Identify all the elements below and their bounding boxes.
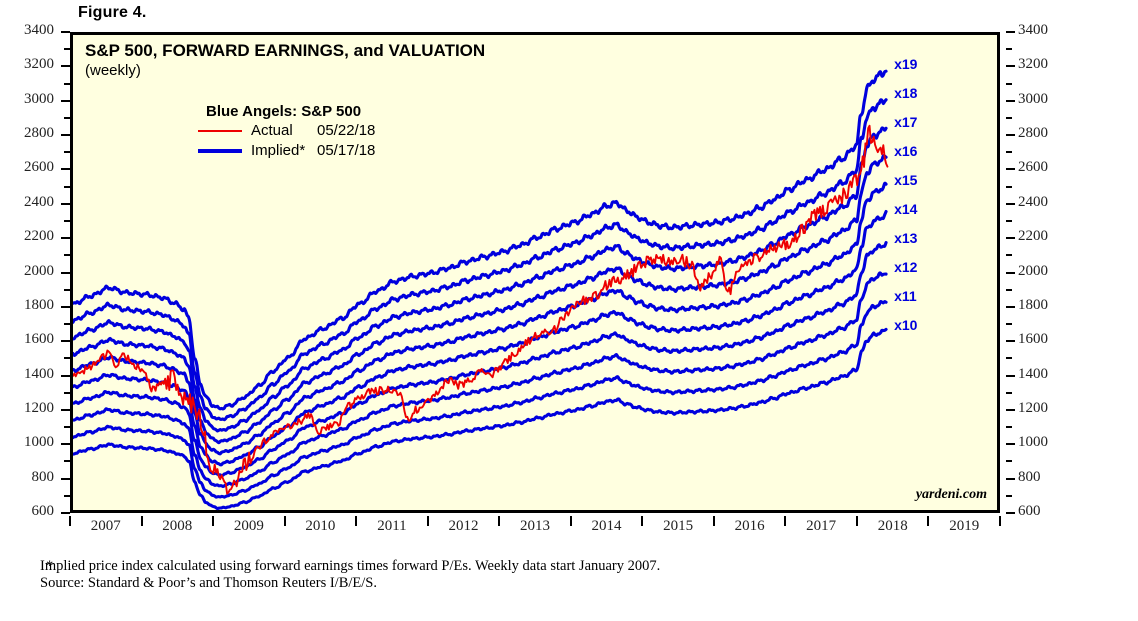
y-axis-label-3000: 3000 xyxy=(8,91,54,108)
y-tick-left xyxy=(61,168,70,170)
y-axis-label-1800: 1800 xyxy=(8,297,54,314)
x-axis-label-2012: 2012 xyxy=(433,518,493,535)
y-minor-tick-left xyxy=(64,48,70,50)
y-axis-label-1200: 1200 xyxy=(8,400,54,417)
y-axis-label-2800: 2800 xyxy=(8,125,54,142)
y-tick-right xyxy=(1006,340,1015,342)
y-tick-right xyxy=(1006,512,1015,514)
x-tick-2015 xyxy=(641,516,643,526)
y-minor-tick-left xyxy=(64,220,70,222)
x-tick-2013 xyxy=(498,516,500,526)
y-tick-left xyxy=(61,134,70,136)
footnote-marker: * xyxy=(46,558,53,575)
y-axis-label-right-1400: 1400 xyxy=(1018,366,1064,383)
x-tick-2010 xyxy=(284,516,286,526)
x-axis-label-2010: 2010 xyxy=(290,518,350,535)
y-tick-right xyxy=(1006,65,1015,67)
y-axis-label-2400: 2400 xyxy=(8,194,54,211)
y-axis-label-right-2800: 2800 xyxy=(1018,125,1064,142)
pe-multiple-label-x11: x11 xyxy=(894,288,917,304)
pe-multiple-label-x15: x15 xyxy=(894,172,917,188)
y-minor-tick-right xyxy=(1006,151,1012,153)
y-axis-label-right-3400: 3400 xyxy=(1018,22,1064,39)
y-tick-left xyxy=(61,512,70,514)
y-minor-tick-left xyxy=(64,186,70,188)
red-line-swatch-icon xyxy=(198,130,242,132)
y-tick-right xyxy=(1006,100,1015,102)
y-minor-tick-left xyxy=(64,495,70,497)
y-minor-tick-left xyxy=(64,83,70,85)
footnote-line-2: Source: Standard & Poor’s and Thomson Re… xyxy=(40,575,660,592)
pe-multiple-label-x14: x14 xyxy=(894,201,917,217)
y-minor-tick-right xyxy=(1006,83,1012,85)
y-axis-label-3200: 3200 xyxy=(8,56,54,73)
pe-multiple-label-x17: x17 xyxy=(894,114,917,130)
y-axis-label-1400: 1400 xyxy=(8,366,54,383)
legend-item-date: 05/17/18 xyxy=(317,142,375,159)
y-axis-label-right-800: 800 xyxy=(1018,469,1064,486)
pe-multiple-label-x18: x18 xyxy=(894,85,917,101)
y-tick-right xyxy=(1006,203,1015,205)
y-axis-label-2600: 2600 xyxy=(8,159,54,176)
pe-multiple-label-x12: x12 xyxy=(894,259,917,275)
x-axis-label-2011: 2011 xyxy=(362,518,422,535)
y-axis-label-right-2000: 2000 xyxy=(1018,263,1064,280)
y-axis-label-right-600: 600 xyxy=(1018,503,1064,520)
y-tick-right xyxy=(1006,31,1015,33)
x-tick-2019 xyxy=(927,516,929,526)
x-axis-label-2015: 2015 xyxy=(648,518,708,535)
pe-multiple-label-x19: x19 xyxy=(894,56,917,72)
y-axis-label-right-2400: 2400 xyxy=(1018,194,1064,211)
y-axis-label-right-1000: 1000 xyxy=(1018,434,1064,451)
pe-multiple-label-x16: x16 xyxy=(894,143,917,159)
x-axis-label-2018: 2018 xyxy=(863,518,923,535)
legend-title: Blue Angels: S&P 500 xyxy=(206,103,375,120)
y-minor-tick-left xyxy=(64,460,70,462)
y-axis-label-right-1600: 1600 xyxy=(1018,331,1064,348)
y-tick-left xyxy=(61,272,70,274)
y-axis-label-right-1800: 1800 xyxy=(1018,297,1064,314)
y-tick-right xyxy=(1006,443,1015,445)
y-minor-tick-left xyxy=(64,426,70,428)
x-tick-2014 xyxy=(570,516,572,526)
y-tick-right xyxy=(1006,409,1015,411)
legend-item-label: Implied* xyxy=(251,142,317,159)
y-minor-tick-right xyxy=(1006,426,1012,428)
x-tick-2009 xyxy=(212,516,214,526)
y-tick-left xyxy=(61,340,70,342)
x-axis-label-2007: 2007 xyxy=(76,518,136,535)
x-tick-2020 xyxy=(999,516,1001,526)
y-tick-right xyxy=(1006,237,1015,239)
chart-legend: Blue Angels: S&P 500 Actual 05/22/18 Imp… xyxy=(198,103,375,160)
y-tick-left xyxy=(61,65,70,67)
x-axis-label-2008: 2008 xyxy=(147,518,207,535)
footnote-line-1: Implied price index calculated using for… xyxy=(40,558,660,575)
y-axis-label-2200: 2200 xyxy=(8,228,54,245)
y-minor-tick-right xyxy=(1006,220,1012,222)
y-tick-left xyxy=(61,100,70,102)
y-minor-tick-right xyxy=(1006,460,1012,462)
implied-bands-group xyxy=(73,71,886,508)
y-tick-right xyxy=(1006,134,1015,136)
y-tick-left xyxy=(61,375,70,377)
x-axis-label-2017: 2017 xyxy=(791,518,851,535)
y-minor-tick-right xyxy=(1006,357,1012,359)
y-minor-tick-left xyxy=(64,357,70,359)
y-axis-label-right-3000: 3000 xyxy=(1018,91,1064,108)
x-tick-2017 xyxy=(784,516,786,526)
y-minor-tick-left xyxy=(64,323,70,325)
y-minor-tick-right xyxy=(1006,186,1012,188)
y-tick-left xyxy=(61,31,70,33)
x-tick-2011 xyxy=(355,516,357,526)
y-axis-label-3400: 3400 xyxy=(8,22,54,39)
legend-item-date: 05/22/18 xyxy=(317,122,375,139)
x-axis-label-2013: 2013 xyxy=(505,518,565,535)
chart-title: S&P 500, FORWARD EARNINGS, and VALUATION xyxy=(85,41,485,61)
y-minor-tick-right xyxy=(1006,48,1012,50)
y-axis-label-1600: 1600 xyxy=(8,331,54,348)
x-axis-label-2019: 2019 xyxy=(934,518,994,535)
yardeni-watermark: yardeni.com xyxy=(916,487,987,503)
implied-band-x16 xyxy=(73,156,886,443)
y-minor-tick-left xyxy=(64,289,70,291)
y-tick-right xyxy=(1006,375,1015,377)
y-tick-right xyxy=(1006,306,1015,308)
x-tick-2007 xyxy=(69,516,71,526)
x-axis-label-2014: 2014 xyxy=(577,518,637,535)
x-axis-label-2009: 2009 xyxy=(219,518,279,535)
y-tick-left xyxy=(61,478,70,480)
y-tick-left xyxy=(61,409,70,411)
footnote: * Implied price index calculated using f… xyxy=(40,558,660,592)
y-tick-left xyxy=(61,306,70,308)
y-tick-left xyxy=(61,443,70,445)
pe-multiple-label-x10: x10 xyxy=(894,317,917,333)
y-minor-tick-right xyxy=(1006,323,1012,325)
y-minor-tick-left xyxy=(64,254,70,256)
chart-plot-area: S&P 500, FORWARD EARNINGS, and VALUATION… xyxy=(70,32,1000,513)
actual-line xyxy=(73,126,887,494)
y-minor-tick-right xyxy=(1006,495,1012,497)
legend-item-actual[interactable]: Actual 05/22/18 xyxy=(198,121,375,140)
legend-item-label: Actual xyxy=(251,122,317,139)
y-tick-right xyxy=(1006,272,1015,274)
x-axis-label-2016: 2016 xyxy=(720,518,780,535)
y-axis-label-1000: 1000 xyxy=(8,434,54,451)
y-minor-tick-right xyxy=(1006,289,1012,291)
x-tick-2012 xyxy=(427,516,429,526)
blue-line-swatch-icon xyxy=(198,149,242,153)
y-axis-label-2000: 2000 xyxy=(8,263,54,280)
figure-label: Figure 4. xyxy=(78,4,146,22)
y-axis-label-800: 800 xyxy=(8,469,54,486)
y-axis-label-right-3200: 3200 xyxy=(1018,56,1064,73)
y-tick-right xyxy=(1006,478,1015,480)
y-minor-tick-left xyxy=(64,392,70,394)
x-tick-2018 xyxy=(856,516,858,526)
y-minor-tick-right xyxy=(1006,392,1012,394)
y-axis-label-600: 600 xyxy=(8,503,54,520)
x-tick-2008 xyxy=(141,516,143,526)
y-tick-left xyxy=(61,203,70,205)
y-axis-label-right-1200: 1200 xyxy=(1018,400,1064,417)
x-tick-2016 xyxy=(713,516,715,526)
y-axis-label-right-2200: 2200 xyxy=(1018,228,1064,245)
y-minor-tick-right xyxy=(1006,254,1012,256)
y-tick-left xyxy=(61,237,70,239)
y-tick-right xyxy=(1006,168,1015,170)
y-minor-tick-left xyxy=(64,151,70,153)
y-minor-tick-right xyxy=(1006,117,1012,119)
y-minor-tick-left xyxy=(64,117,70,119)
chart-subtitle: (weekly) xyxy=(85,62,141,79)
pe-multiple-label-x13: x13 xyxy=(894,230,917,246)
legend-item-implied[interactable]: Implied* 05/17/18 xyxy=(198,141,375,160)
y-axis-label-right-2600: 2600 xyxy=(1018,159,1064,176)
